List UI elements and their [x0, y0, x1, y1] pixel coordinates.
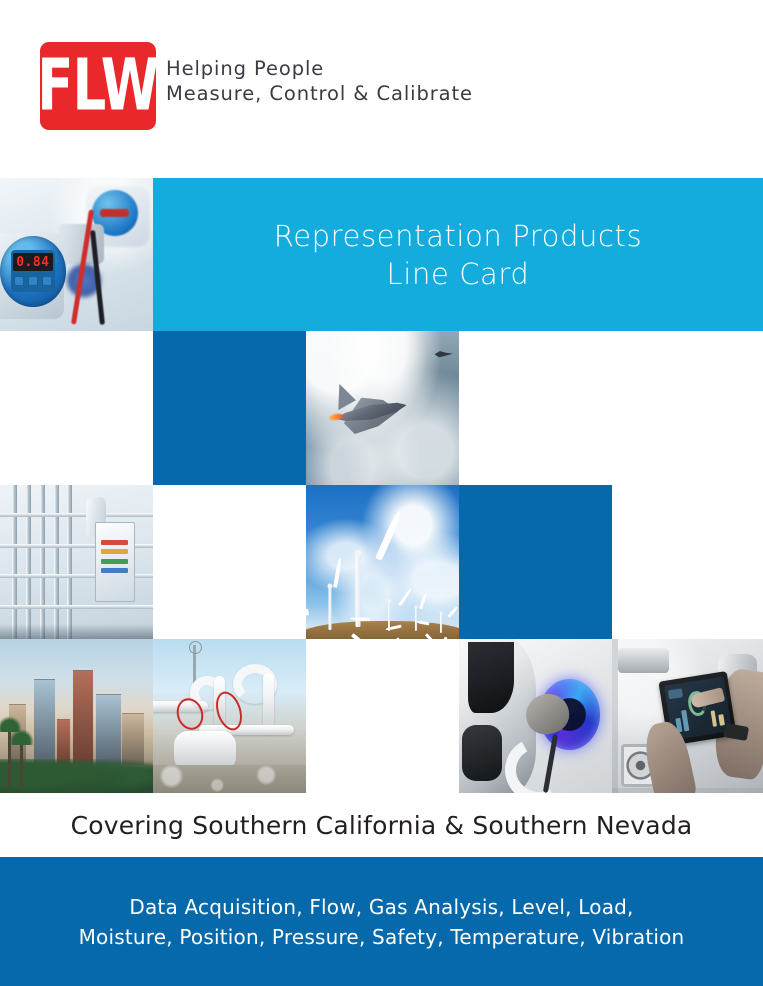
- blue-block-r2c2: [153, 331, 306, 485]
- palm-tree-2: [20, 738, 23, 787]
- line-card-page: FLW Helping People Measure, Control & Ca…: [0, 0, 763, 986]
- city-tower-5: [122, 713, 143, 765]
- jet-distant-aircraft: [435, 349, 453, 358]
- tablet-bar-2: [682, 710, 690, 732]
- city-tower-4: [96, 694, 120, 765]
- panel-indicator-amber: [101, 549, 128, 554]
- control-panel: [95, 522, 135, 602]
- image-mosaic: 0.84: [0, 178, 763, 793]
- turbine-mast-4: [415, 607, 417, 631]
- turbine-blade-5-1: [447, 606, 458, 618]
- turbine-blade-4-1: [419, 593, 427, 609]
- panel-indicator-green: [101, 559, 128, 564]
- flw-logo-icon: FLW: [40, 42, 156, 130]
- transmitter-reading: 0.84: [16, 255, 49, 270]
- pipe-vertical-5: [67, 485, 72, 639]
- turbine-blade-2-1: [334, 557, 343, 587]
- wind-turbine-photo: [306, 485, 459, 639]
- turbine-hub-main: [355, 549, 362, 556]
- white-block-r3c5: [612, 485, 763, 639]
- turbine-blade-main-3: [306, 608, 309, 622]
- white-block-r2c5: [612, 331, 763, 485]
- pipeline-gravel-pad: [153, 765, 306, 793]
- process-piping-photo: [0, 485, 153, 639]
- transmitter-dial: 0.84: [0, 236, 66, 306]
- panel-indicator-red: [101, 540, 128, 545]
- transmitter-button-right: [42, 276, 52, 286]
- transmitter-buttons: [14, 275, 52, 288]
- tagline-line-1: Helping People: [166, 56, 473, 81]
- coverage-text: Covering Southern California & Southern …: [71, 811, 693, 840]
- turbine-blade-3-1: [398, 588, 412, 606]
- fighter-jet-photo: [306, 331, 459, 485]
- industrial-tablet-photo: [612, 639, 763, 793]
- tagline-line-2: Measure, Control & Calibrate: [166, 81, 473, 106]
- ev-window-dark: [468, 642, 514, 713]
- piping-floor-shadow: [0, 624, 153, 639]
- pipe-vertical-4: [54, 485, 59, 639]
- coverage-strip: Covering Southern California & Southern …: [0, 793, 763, 857]
- pipe-vertical-2: [26, 485, 31, 639]
- white-block-r4c3: [306, 639, 459, 793]
- company-tagline: Helping People Measure, Control & Calibr…: [166, 56, 473, 106]
- tablet-header-tile: [669, 688, 683, 699]
- turbine-mast-5: [440, 613, 442, 633]
- pipe-horizontal-1: [0, 513, 153, 517]
- gas-pipeline-photo: [153, 639, 306, 793]
- footer-categories-band: Data Acquisition, Flow, Gas Analysis, Le…: [0, 857, 763, 986]
- turbine-hub-4: [415, 606, 418, 609]
- transmitter-faceplate: 0.84: [11, 250, 56, 292]
- city-tower-1: [34, 679, 55, 765]
- title-line-1: Representation Products: [274, 217, 642, 255]
- white-block-r3c2: [153, 485, 306, 639]
- tablet-bar-3: [711, 710, 718, 727]
- transmitter-lcd: 0.84: [13, 253, 52, 272]
- plant-ductwork: [618, 648, 669, 673]
- title-line-2: Line Card: [387, 255, 530, 293]
- city-tower-3: [73, 670, 93, 765]
- transmitter-button-left: [14, 276, 24, 286]
- white-block-r2c4: [459, 331, 612, 485]
- panel-indicator-blue: [101, 568, 128, 573]
- city-treeline: [0, 759, 153, 793]
- flw-logo-wordmark: FLW: [40, 50, 156, 122]
- pipe-vertical-1: [12, 485, 17, 639]
- title-banner: Representation Products Line Card: [153, 178, 763, 331]
- city-skyline-photo: [0, 639, 153, 793]
- turbine-mast-2: [329, 586, 332, 630]
- footer-line-1: Data Acquisition, Flow, Gas Analysis, Le…: [129, 892, 633, 922]
- pressure-transmitter-photo: 0.84: [0, 178, 153, 331]
- tablet-bar-4: [718, 714, 724, 726]
- jet-exhaust-flame: [328, 413, 343, 422]
- ev-panel-dark: [462, 725, 502, 780]
- pipe-vertical-3: [40, 485, 45, 639]
- turbine-hub-3: [387, 599, 391, 603]
- turbine-mast-main: [356, 553, 361, 627]
- white-block-r2c1: [0, 331, 153, 485]
- pipe-horizontal-4: [0, 605, 153, 609]
- footer-line-2: Moisture, Position, Pressure, Safety, Te…: [79, 922, 685, 952]
- ev-charging-photo: [459, 639, 612, 793]
- turbine-blade-main-1: [375, 510, 403, 560]
- page-header: FLW Helping People Measure, Control & Ca…: [0, 0, 763, 178]
- blue-block-r3c4: [459, 485, 612, 639]
- turbine-hub-5: [439, 611, 442, 614]
- jet-tail-fin: [330, 381, 357, 411]
- transmitter-button-mid: [28, 276, 38, 286]
